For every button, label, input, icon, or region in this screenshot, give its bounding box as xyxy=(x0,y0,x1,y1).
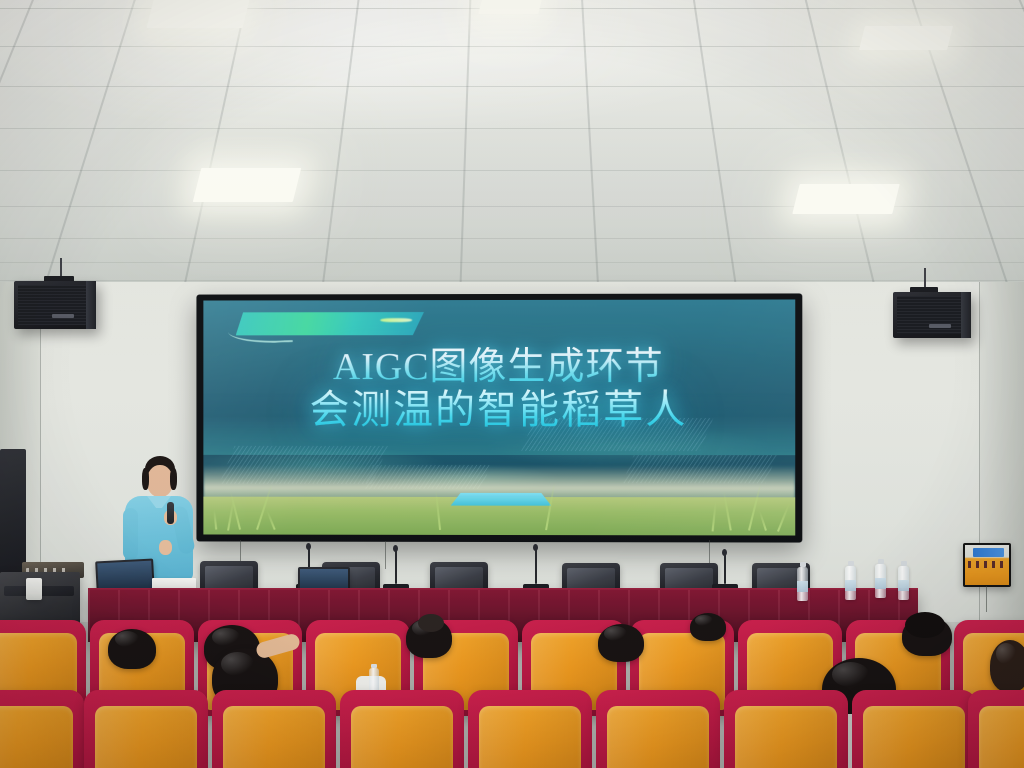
audience-seat[interactable] xyxy=(0,690,84,768)
presenter-arm-left xyxy=(123,508,138,560)
thermos-cup xyxy=(26,578,42,600)
slide-title: AIGC图像生成环节 会测温的智能稻草人 xyxy=(203,347,795,432)
speaker-logo xyxy=(929,324,951,328)
bottle-label xyxy=(845,580,856,592)
chair-backrest-pad xyxy=(665,568,713,590)
ceiling-light-panel xyxy=(859,26,953,50)
microphone-capsule xyxy=(533,544,538,551)
bottle-cap xyxy=(371,664,377,668)
chair-backrest-pad xyxy=(435,567,483,589)
speaker-grille xyxy=(18,285,86,325)
bottle-label xyxy=(875,578,886,590)
audience-head xyxy=(108,629,156,669)
audience-seat[interactable] xyxy=(596,690,720,768)
bottle-label xyxy=(797,581,808,593)
microphone-stem xyxy=(395,549,397,584)
wall-mounted-monitor[interactable] xyxy=(963,543,1011,587)
seat-cushion xyxy=(0,706,73,768)
seat-cushion xyxy=(607,706,709,768)
seat-cushion xyxy=(95,706,197,768)
presenter-hair-side xyxy=(142,468,149,490)
monitor-audience-rows xyxy=(968,561,1007,568)
ceiling-light-panel xyxy=(478,0,541,14)
chair-backrest-pad xyxy=(567,568,615,590)
ceiling-light-panel xyxy=(792,184,899,214)
audience-hair-bun xyxy=(905,612,945,638)
slide-platform-graphic xyxy=(451,493,552,506)
gooseneck-microphone[interactable] xyxy=(712,553,738,593)
ceiling-grid-line-h xyxy=(0,86,1024,87)
presenter-hand-left xyxy=(159,540,172,555)
audience-seat[interactable] xyxy=(968,690,1024,768)
speaker-logo xyxy=(52,314,74,318)
ceiling-grid-line-h xyxy=(0,262,1024,263)
ceiling-grid-line-h xyxy=(0,238,1024,239)
audience-head xyxy=(990,640,1024,692)
audience-seat[interactable] xyxy=(340,690,464,768)
audience-seat[interactable] xyxy=(468,690,592,768)
seat-cushion xyxy=(863,706,965,768)
audience-seat[interactable] xyxy=(212,690,336,768)
microphone-capsule xyxy=(722,549,727,556)
audience-head xyxy=(690,613,726,641)
seat-cushion xyxy=(479,706,581,768)
slide-display: AIGC图像生成环节 会测温的智能稻草人 xyxy=(203,299,795,535)
microphone-capsule xyxy=(306,543,311,550)
left-dark-panel xyxy=(0,449,26,575)
audience-seat[interactable] xyxy=(852,690,976,768)
ceiling-grid-line-h xyxy=(0,170,1024,171)
water-bottle[interactable] xyxy=(898,566,909,600)
auditorium-photo: AIGC图像生成环节 会测温的智能稻草人 xyxy=(0,0,1024,768)
seat-cushion xyxy=(735,706,837,768)
ceiling-light-panel xyxy=(147,0,250,28)
ceiling xyxy=(0,0,1024,300)
seat-cushion xyxy=(351,706,453,768)
speaker-side-panel xyxy=(86,281,96,329)
audience-head xyxy=(598,624,644,662)
ceiling-light-panel xyxy=(193,168,301,202)
monitor-cable xyxy=(986,586,987,612)
bottle-label xyxy=(898,580,909,592)
speaker-grille xyxy=(897,296,961,334)
ceiling-grid-line-h xyxy=(0,280,1024,281)
speaker-side-panel xyxy=(961,292,971,338)
ceiling-grid-line-h xyxy=(0,128,1024,129)
microphone-stem xyxy=(535,548,537,584)
speaker-right xyxy=(893,292,971,338)
gooseneck-microphone[interactable] xyxy=(383,549,409,593)
speaker-left xyxy=(14,281,96,329)
monitor-banner xyxy=(973,548,1004,557)
presenter-hair-side xyxy=(170,468,177,490)
seat-cushion xyxy=(979,706,1024,768)
bottle-cap xyxy=(848,561,854,566)
microphone-capsule xyxy=(393,545,398,552)
water-bottle[interactable] xyxy=(797,567,808,601)
seat-cushion xyxy=(223,706,325,768)
bottle-cap xyxy=(901,561,907,566)
microphone-stem xyxy=(724,553,726,584)
water-bottle[interactable] xyxy=(845,566,856,600)
audience-seat[interactable] xyxy=(84,690,208,768)
water-bottle[interactable] xyxy=(875,564,886,598)
bottle-cap xyxy=(878,559,884,564)
led-wall-screen[interactable]: AIGC图像生成环节 会测温的智能稻草人 xyxy=(196,293,802,542)
bottle-cap xyxy=(800,562,806,567)
slide-title-line-2: 会测温的智能稻草人 xyxy=(203,389,795,432)
audience-hair-scrunchie xyxy=(418,614,444,632)
audience-seat[interactable] xyxy=(724,690,848,768)
slide-title-line-1: AIGC图像生成环节 xyxy=(203,347,795,388)
gooseneck-microphone[interactable] xyxy=(523,548,549,593)
monitor-live-feed xyxy=(965,545,1009,585)
presenter-microphone[interactable] xyxy=(167,502,174,524)
